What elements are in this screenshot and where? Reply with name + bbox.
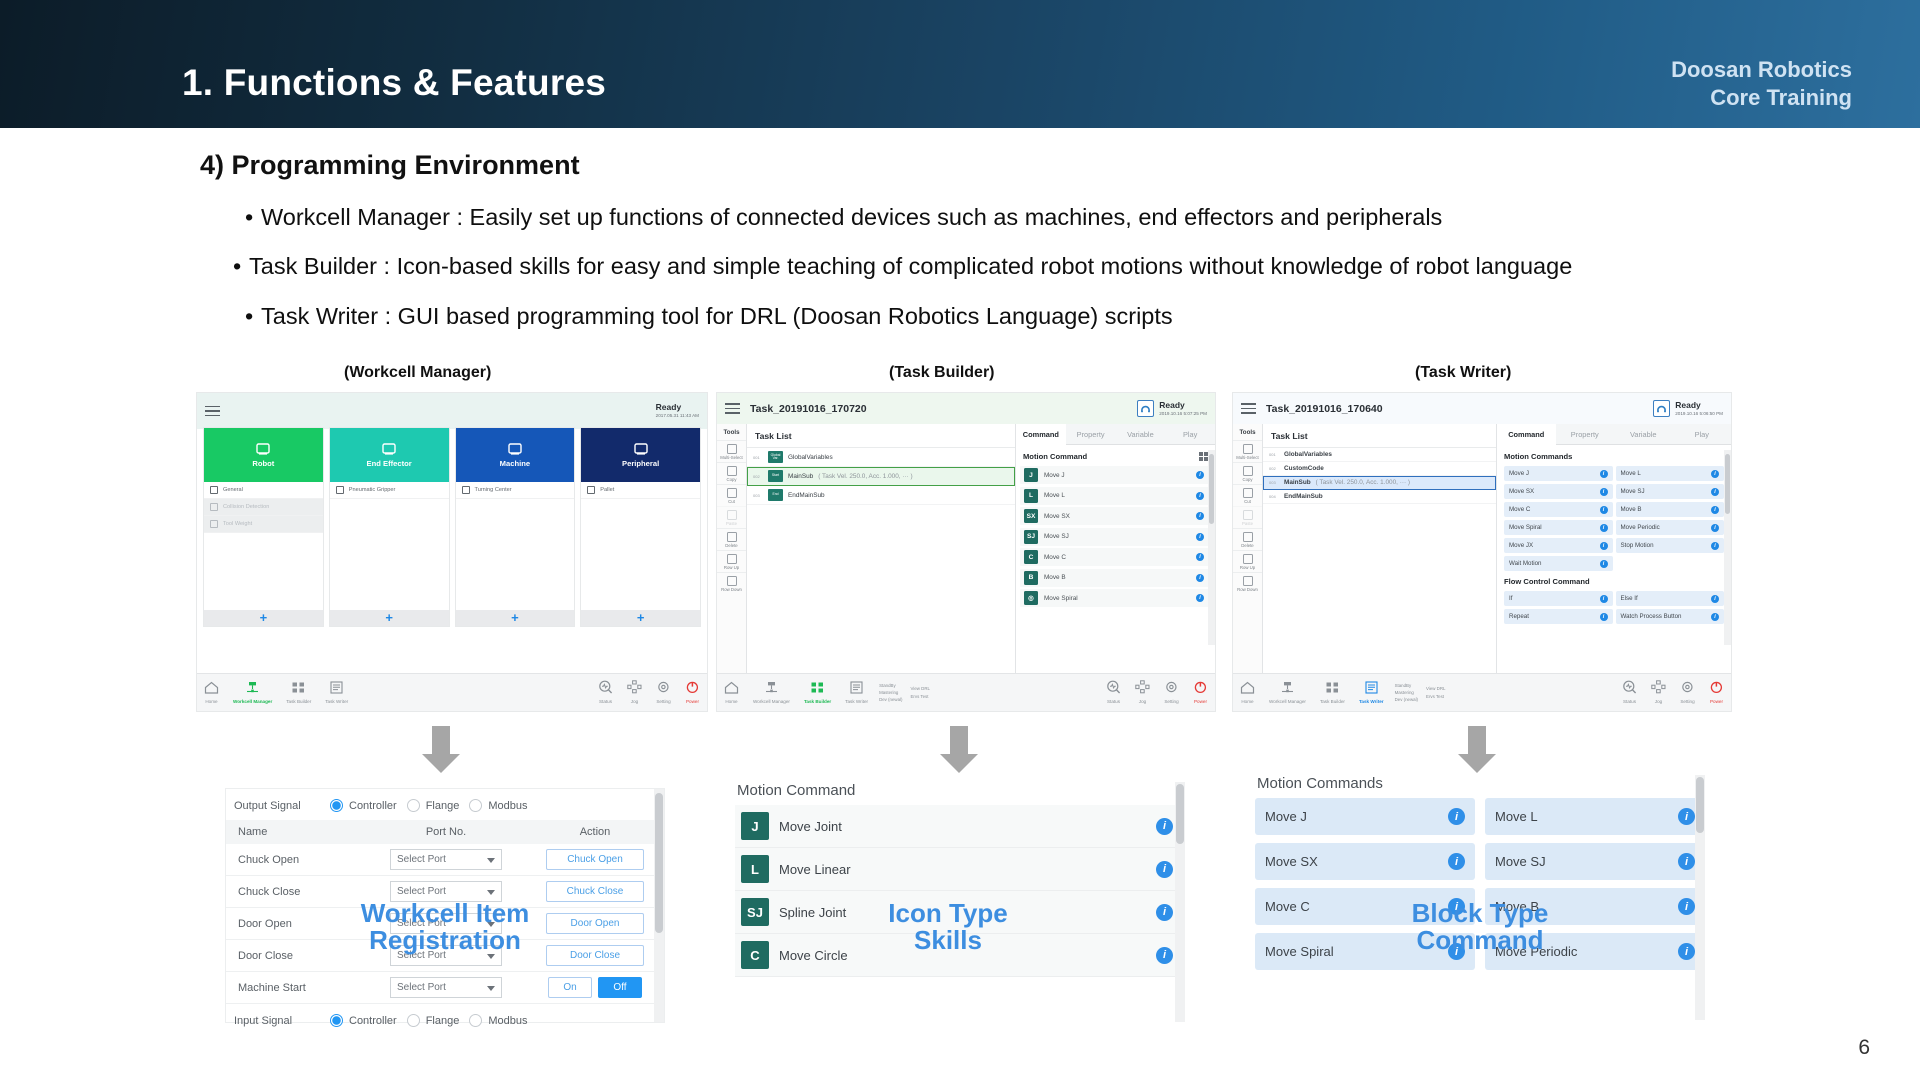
arrow-down-taskwriter: [1458, 726, 1496, 773]
tool-label: Delete: [1241, 543, 1253, 548]
task-list-row[interactable]: 003MainSub( Task Vel. 250.0, Acc. 1.000,…: [1263, 476, 1496, 490]
tab-play[interactable]: Play: [1673, 424, 1732, 444]
status-badge: Ready 2019.10.16 5:07:25 PM: [1137, 400, 1207, 417]
task-list[interactable]: Task List 001Global Var.GlobalVariables0…: [747, 424, 1016, 675]
nav-task-writer[interactable]: Task Writer: [1352, 681, 1391, 704]
block-command-stop-motion[interactable]: Stop Motioni: [1616, 538, 1725, 553]
block-command-move-l[interactable]: Move Li: [1616, 466, 1725, 481]
command-label: Move Spiral: [1044, 595, 1078, 602]
tool-label: Row Down: [721, 587, 742, 592]
info-icon[interactable]: i: [1448, 853, 1465, 870]
nav-workcell-manager[interactable]: Workcell Manager: [1262, 681, 1313, 704]
task-list[interactable]: Task List 001GlobalVariables002CustomCod…: [1263, 424, 1497, 675]
tab-property[interactable]: Property: [1556, 424, 1615, 444]
nav-jog[interactable]: Jog: [620, 680, 649, 704]
setting-icon: [656, 680, 671, 696]
task-name: Task_20191016_170720: [750, 403, 867, 415]
tool-row-up[interactable]: Row Up: [1233, 550, 1262, 572]
block-command-move-periodic[interactable]: Move Periodici: [1616, 520, 1725, 535]
workcell-card-robot[interactable]: RobotGeneralCollision DetectionTool Weig…: [203, 427, 324, 627]
scrollbar[interactable]: [1175, 782, 1185, 1022]
block-label: Move SJ: [1621, 488, 1645, 495]
gripper-small-icon: [336, 486, 344, 494]
card-title: Machine: [500, 459, 530, 468]
action-wrap: Door Close: [526, 945, 664, 966]
info-icon[interactable]: i: [1678, 943, 1695, 960]
card-body: Pallet: [581, 482, 700, 610]
card-item[interactable]: Pallet: [581, 482, 700, 499]
add-item-button[interactable]: +: [204, 610, 323, 626]
block-move-sx[interactable]: Move SXi: [1255, 843, 1475, 880]
caption-task-builder: (Task Builder): [889, 364, 995, 382]
info-icon[interactable]: i: [1600, 470, 1608, 478]
info-icon[interactable]: i: [1448, 808, 1465, 825]
setting-icon: [1164, 680, 1179, 696]
cell-name: Chuck Open: [226, 844, 366, 876]
nav-task-builder[interactable]: Task Builder: [1313, 681, 1352, 704]
command-row[interactable]: CMove Ci: [1020, 548, 1211, 566]
task-list-row[interactable]: 001Global Var.GlobalVariables: [747, 448, 1015, 467]
port-select[interactable]: Select Port: [390, 849, 502, 870]
info-icon[interactable]: i: [1156, 818, 1173, 835]
info-icon[interactable]: i: [1678, 808, 1695, 825]
tool-delete[interactable]: Delete: [1233, 528, 1262, 550]
command-row[interactable]: ◎Move Spirali: [1020, 589, 1211, 607]
info-icon[interactable]: i: [1196, 594, 1204, 602]
gripper-icon: [381, 442, 397, 456]
task-list-row[interactable]: 004EndMainSub: [1263, 490, 1496, 504]
tab-command[interactable]: Command: [1497, 424, 1556, 445]
card-item-label: Pneumatic Gripper: [349, 487, 396, 493]
block-move-l[interactable]: Move Li: [1485, 798, 1705, 835]
command-label: Move C: [1044, 554, 1066, 561]
nav-status-group: StandByMasteringDev (newal): [875, 682, 906, 704]
workcell-manager-icon: [753, 681, 790, 696]
action-button[interactable]: Chuck Open: [546, 849, 644, 870]
motion-command-grid[interactable]: Move JiMove LiMove SXiMove SJiMove CiMov…: [1497, 466, 1731, 571]
task-list-header: Task List: [1263, 424, 1496, 448]
status-icon: [1622, 680, 1637, 696]
command-tabs[interactable]: CommandPropertyVariablePlay: [1016, 424, 1215, 445]
pallet-small-icon: [587, 486, 595, 494]
task-list-rows[interactable]: 001GlobalVariables002CustomCode003MainSu…: [1263, 448, 1496, 504]
nav-power[interactable]: Power: [1186, 680, 1215, 704]
command-label: Move J: [1044, 472, 1065, 479]
command-row[interactable]: JMove Ji: [1020, 466, 1211, 484]
row-label: GlobalVariables: [1284, 451, 1332, 458]
info-icon[interactable]: i: [1711, 470, 1719, 478]
nav-task-builder[interactable]: Task Builder: [279, 681, 318, 704]
command-pane[interactable]: CommandPropertyVariablePlay Motion Comma…: [1497, 424, 1731, 675]
page-title: 1. Functions & Features: [182, 62, 606, 104]
skill-label: Move Linear: [779, 862, 851, 877]
block-command-repeat[interactable]: Repeati: [1504, 609, 1612, 624]
bullet-dot-icon: •: [245, 305, 261, 329]
block-command-move-spiral[interactable]: Move Spirali: [1504, 520, 1612, 535]
nav-label: Status: [599, 699, 612, 704]
status-group-item: Mastering: [1395, 689, 1418, 696]
info-icon[interactable]: i: [1600, 595, 1608, 603]
block-command-if[interactable]: Ifi: [1504, 591, 1612, 606]
workcell-card-peripheral[interactable]: PeripheralPallet+: [580, 427, 701, 627]
block-label: Move C: [1509, 506, 1530, 513]
status-icon: [598, 680, 613, 696]
info-icon[interactable]: i: [1196, 492, 1204, 500]
add-item-button[interactable]: +: [581, 610, 700, 626]
nav-home[interactable]: Home: [717, 681, 746, 704]
radio-controller-input[interactable]: Controller: [330, 1014, 397, 1027]
nav-setting[interactable]: Setting: [1157, 680, 1186, 704]
nav-task-writer[interactable]: Task Writer: [318, 681, 355, 704]
bullet-item-workcell-manager: •Workcell Manager : Easily set up functi…: [245, 206, 1442, 230]
card-title: Robot: [252, 459, 274, 468]
block-label: Else If: [1621, 595, 1638, 602]
tool-multi-select[interactable]: Multi-Select: [717, 440, 746, 462]
move-spiral-icon: ◎: [1024, 591, 1038, 605]
tb-topbar: Task_20191016_170720 Ready 2019.10.16 5:…: [717, 393, 1215, 424]
task-builder-icon: [1320, 681, 1345, 696]
tool-label: Row Up: [724, 565, 739, 570]
page-number: 6: [1858, 1036, 1870, 1060]
tab-play[interactable]: Play: [1165, 424, 1215, 444]
block-label: If: [1509, 595, 1512, 602]
info-icon[interactable]: i: [1600, 506, 1608, 514]
status-group-item: View DRL: [911, 685, 930, 692]
workcell-card-end-effector[interactable]: End EffectorPneumatic Gripper+: [329, 427, 450, 627]
move-j-icon: J: [1024, 468, 1038, 482]
block-command-move-sj[interactable]: Move SJi: [1616, 484, 1725, 499]
tool-multi-select[interactable]: Multi-Select: [1233, 440, 1262, 462]
workcell-card-machine[interactable]: MachineTurning Center+: [455, 427, 576, 627]
tool-delete[interactable]: Delete: [717, 528, 746, 550]
card-item[interactable]: Collision Detection: [204, 499, 323, 516]
tool-cut[interactable]: Cut: [717, 484, 746, 506]
row-label: GlobalVariables: [788, 454, 833, 461]
row-number: 002: [1269, 466, 1279, 471]
info-icon[interactable]: i: [1600, 613, 1608, 621]
block-label: Wait Motion: [1509, 560, 1541, 567]
block-command-watch-process-button[interactable]: Watch Process Buttoni: [1616, 609, 1725, 624]
row-down-icon: [727, 576, 737, 586]
nav-label: Task Builder: [804, 699, 831, 704]
card-item[interactable]: Turning Center: [456, 482, 575, 499]
block-command-move-jx[interactable]: Move JXi: [1504, 538, 1612, 553]
skill-row-move-linear[interactable]: LMove Lineari: [735, 848, 1185, 891]
status-group-item: View DRL: [1426, 685, 1445, 692]
scrollbar[interactable]: [1695, 775, 1705, 1020]
info-icon[interactable]: i: [1196, 471, 1204, 479]
tools-rail[interactable]: ToolsMulti-SelectCopyCutPasteDeleteRow U…: [1233, 424, 1263, 675]
row-number: 002: [753, 474, 763, 479]
nav-setting[interactable]: Setting: [1673, 680, 1702, 704]
status-group-item: StandBy: [879, 682, 902, 689]
power-icon: [685, 680, 700, 696]
table-header-row: Name Port No. Action: [226, 820, 664, 844]
power-icon: [1193, 680, 1208, 696]
command-label: Move B: [1044, 574, 1066, 581]
cell-port: Select Port: [366, 972, 526, 1004]
caption-task-writer: (Task Writer): [1415, 364, 1511, 382]
info-icon[interactable]: i: [1196, 574, 1204, 582]
tool-paste[interactable]: Paste: [717, 506, 746, 528]
block-label: Move L: [1495, 809, 1538, 824]
task-builder-screenshot[interactable]: Task_20191016_170720 Ready 2019.10.16 5:…: [716, 392, 1216, 712]
status-timestamp: 2019.10.16 5:07:25 PM: [1159, 411, 1207, 416]
nav-workcell-manager[interactable]: Workcell Manager: [746, 681, 797, 704]
brand-block: Doosan Robotics Core Training: [1671, 56, 1852, 112]
command-pane[interactable]: CommandPropertyVariablePlay Motion Comma…: [1016, 424, 1215, 675]
radio-flange-input[interactable]: Flange: [407, 1014, 460, 1027]
grid-view-icon[interactable]: [1199, 452, 1208, 461]
nav-power[interactable]: Power: [1702, 680, 1731, 704]
info-icon[interactable]: i: [1600, 542, 1608, 550]
task-writer-icon: [845, 681, 868, 696]
status-group-item: Dev (newal): [1395, 696, 1418, 703]
add-item-button[interactable]: +: [330, 610, 449, 626]
caption-workcell-manager: (Workcell Manager): [344, 364, 491, 382]
motion-command-title: Motion Command: [735, 782, 1185, 805]
info-icon[interactable]: i: [1156, 947, 1173, 964]
task-name: Task_20191016_170640: [1266, 403, 1383, 415]
bottom-nav[interactable]: HomeWorkcell ManagerTask BuilderTask Wri…: [717, 673, 1215, 711]
task-list-row[interactable]: 002StartMainSub( Task Vel. 250.0, Acc. 1…: [747, 467, 1015, 486]
nav-label: Jog: [631, 699, 638, 704]
block-label: Move Periodic: [1621, 524, 1660, 531]
command-tabs[interactable]: CommandPropertyVariablePlay: [1497, 424, 1731, 445]
action-on-button[interactable]: On: [548, 977, 592, 998]
move-sj-icon: SJ: [741, 898, 769, 926]
nav-label: Setting: [656, 699, 670, 704]
bottom-nav[interactable]: HomeWorkcell ManagerTask BuilderTask Wri…: [1233, 673, 1731, 711]
nav-setting[interactable]: Setting: [649, 680, 678, 704]
action-button[interactable]: Door Open: [546, 913, 644, 934]
task-list-row[interactable]: 003EndEndMainSub: [747, 486, 1015, 505]
action-off-button[interactable]: Off: [598, 977, 642, 998]
tab-variable[interactable]: Variable: [1614, 424, 1673, 444]
workcell-manager-icon: [1269, 681, 1306, 696]
row-chip-icon: Start: [768, 470, 783, 482]
port-select[interactable]: Select Port: [390, 977, 502, 998]
tool-cut[interactable]: Cut: [1233, 484, 1262, 506]
tab-property[interactable]: Property: [1066, 424, 1116, 444]
workcell-manager-screenshot[interactable]: Ready 2017.05.31 11:43 AM RobotGeneralCo…: [196, 392, 708, 712]
status-group-item: Ervs Test: [911, 693, 930, 700]
nav-label: Workcell Manager: [233, 699, 272, 704]
section-title: 4) Programming Environment: [200, 150, 580, 181]
brand-line-2: Core Training: [1671, 84, 1852, 112]
nav-jog[interactable]: Jog: [1128, 680, 1157, 704]
tool-copy[interactable]: Copy: [1233, 462, 1262, 484]
nav-task-builder[interactable]: Task Builder: [797, 681, 838, 704]
menu-icon[interactable]: [725, 403, 740, 414]
output-signal-label: Output Signal: [234, 800, 320, 812]
status-group-item: Ervs Test: [1426, 693, 1445, 700]
robot-small-icon: [210, 486, 218, 494]
info-icon[interactable]: i: [1600, 524, 1608, 532]
move-sj-icon: SJ: [1024, 530, 1038, 544]
move-j-icon: J: [741, 812, 769, 840]
move-b-icon: B: [1024, 571, 1038, 585]
card-title: Peripheral: [622, 459, 659, 468]
radio-modbus-output[interactable]: Modbus: [469, 799, 527, 812]
command-row[interactable]: BMove Bi: [1020, 569, 1211, 587]
output-signal-row[interactable]: Output Signal Controller Flange Modbus: [226, 789, 664, 820]
nav-power[interactable]: Power: [678, 680, 707, 704]
tool-row-down[interactable]: Row Down: [717, 572, 746, 594]
menu-icon[interactable]: [205, 406, 220, 417]
move-c-icon: C: [741, 941, 769, 969]
info-icon[interactable]: i: [1196, 533, 1204, 541]
tab-variable[interactable]: Variable: [1116, 424, 1166, 444]
info-icon[interactable]: i: [1600, 560, 1608, 568]
skill-label: Spline Joint: [779, 905, 846, 920]
tool-copy[interactable]: Copy: [717, 462, 746, 484]
bullet-dot-icon: •: [233, 255, 249, 279]
nav-workcell-manager[interactable]: Workcell Manager: [226, 681, 279, 704]
command-row[interactable]: LMove Li: [1020, 487, 1211, 505]
block-label: Move L: [1621, 470, 1641, 477]
task-list-row[interactable]: 002CustomCode: [1263, 462, 1496, 476]
row-label: CustomCode: [1284, 465, 1324, 472]
move-sx-icon: SX: [1024, 509, 1038, 523]
row-number: 001: [1269, 452, 1279, 457]
block-command-wait-motion[interactable]: Wait Motioni: [1504, 556, 1612, 571]
block-command-move-b[interactable]: Move Bi: [1616, 502, 1725, 517]
bottom-nav[interactable]: HomeWorkcell ManagerTask BuilderTask Wri…: [197, 673, 707, 711]
block-move-sj[interactable]: Move SJi: [1485, 843, 1705, 880]
nav-task-writer[interactable]: Task Writer: [838, 681, 875, 704]
skill-row-move-joint[interactable]: JMove Jointi: [735, 805, 1185, 848]
home-icon: [724, 681, 739, 696]
add-item-button[interactable]: +: [456, 610, 575, 626]
task-list-rows[interactable]: 001Global Var.GlobalVariables002StartMai…: [747, 448, 1015, 505]
info-icon[interactable]: i: [1156, 904, 1173, 921]
tool-label: Row Up: [1240, 565, 1255, 570]
tools-rail[interactable]: ToolsMulti-SelectCopyCutPasteDeleteRow U…: [717, 424, 747, 675]
block-command-else-if[interactable]: Else Ifi: [1616, 591, 1725, 606]
info-icon[interactable]: i: [1711, 613, 1719, 621]
info-icon[interactable]: i: [1711, 524, 1719, 532]
nav-home[interactable]: Home: [1233, 681, 1262, 704]
block-move-j[interactable]: Move Ji: [1255, 798, 1475, 835]
task-list-header: Task List: [747, 424, 1015, 448]
block-label: Move Spiral: [1265, 944, 1334, 959]
menu-icon[interactable]: [1241, 403, 1256, 414]
tool-label: Copy: [726, 477, 736, 482]
info-icon[interactable]: i: [1678, 898, 1695, 915]
table-row: Chuck OpenSelect PortChuck Open: [226, 844, 664, 876]
port-wrap: Select Port: [366, 977, 526, 998]
radio-controller-output[interactable]: Controller: [330, 799, 397, 812]
flow-command-grid[interactable]: IfiElse IfiRepeatiWatch Process Buttoni: [1497, 591, 1731, 624]
info-icon[interactable]: i: [1156, 861, 1173, 878]
card-item[interactable]: Pneumatic Gripper: [330, 482, 449, 499]
tool-row-up[interactable]: Row Up: [717, 550, 746, 572]
arrow-down-workcell: [422, 726, 460, 773]
move-c-icon: C: [1024, 550, 1038, 564]
tool-label: Copy: [1242, 477, 1252, 482]
status-group-item: StandBy: [1395, 682, 1418, 689]
section-label: Motion Command: [1023, 452, 1087, 461]
scrollbar[interactable]: [1724, 450, 1731, 645]
action-button[interactable]: Door Close: [546, 945, 644, 966]
tool-paste[interactable]: Paste: [1233, 506, 1262, 528]
tab-command[interactable]: Command: [1016, 424, 1066, 445]
nav-status[interactable]: Status: [1099, 680, 1128, 704]
command-label: Move SX: [1044, 513, 1070, 520]
card-header: Peripheral: [581, 428, 700, 482]
machine-icon: [507, 442, 523, 456]
scrollbar[interactable]: [654, 789, 664, 1022]
motion-command-list[interactable]: JMove JiLMove LiSXMove SXiSJMove SJiCMov…: [1016, 466, 1215, 607]
scrollbar[interactable]: [1208, 450, 1215, 645]
tool-label: Cut: [1244, 499, 1251, 504]
task-writer-screenshot[interactable]: Task_20191016_170640 Ready 2019.10.16 5:…: [1232, 392, 1732, 712]
command-section-title: Motion Command: [1016, 445, 1215, 466]
task-list-row[interactable]: 001GlobalVariables: [1263, 448, 1496, 462]
command-label: Move L: [1044, 492, 1065, 499]
nav-home[interactable]: Home: [197, 681, 226, 704]
weight-icon: [210, 520, 218, 528]
tw-topbar: Task_20191016_170640 Ready 2019.10.16 5:…: [1233, 393, 1731, 424]
nav-label: Setting: [1680, 699, 1694, 704]
nav-status[interactable]: Status: [591, 680, 620, 704]
card-body: GeneralCollision DetectionTool Weight: [204, 482, 323, 610]
info-icon[interactable]: i: [1711, 506, 1719, 514]
tool-label: Multi-Select: [1236, 455, 1258, 460]
card-item-label: Collision Detection: [223, 504, 269, 510]
nav-status[interactable]: Status: [1615, 680, 1644, 704]
nav-jog[interactable]: Jog: [1644, 680, 1673, 704]
robot-arm-icon: [255, 442, 271, 456]
command-row[interactable]: SJMove SJi: [1020, 528, 1211, 546]
tool-row-down[interactable]: Row Down: [1233, 572, 1262, 594]
info-icon[interactable]: i: [1196, 553, 1204, 561]
info-icon[interactable]: i: [1711, 595, 1719, 603]
info-icon[interactable]: i: [1600, 488, 1608, 496]
info-icon[interactable]: i: [1711, 488, 1719, 496]
input-signal-row[interactable]: Input Signal Controller Flange Modbus: [226, 1004, 664, 1035]
info-icon[interactable]: i: [1711, 542, 1719, 550]
nav-label: Task Builder: [1320, 699, 1345, 704]
block-label: Move SJ: [1495, 854, 1546, 869]
block-label: Move C: [1265, 899, 1310, 914]
nav-label: Setting: [1164, 699, 1178, 704]
radio-flange-output[interactable]: Flange: [407, 799, 460, 812]
card-item-label: Pallet: [600, 487, 614, 493]
block-command-move-sx[interactable]: Move SXi: [1504, 484, 1612, 499]
card-body: Turning Center: [456, 482, 575, 610]
command-row[interactable]: SXMove SXi: [1020, 507, 1211, 525]
row-up-icon: [1243, 554, 1253, 564]
block-label: Move JX: [1509, 542, 1533, 549]
cut-icon: [727, 488, 737, 498]
info-icon[interactable]: i: [1196, 512, 1204, 520]
col-port: Port No.: [366, 820, 526, 844]
card-item-label: General: [223, 487, 243, 493]
radio-modbus-input[interactable]: Modbus: [469, 1014, 527, 1027]
nav-status-group-2: View DRLErvs Test: [907, 685, 934, 700]
tool-label: Paste: [1242, 521, 1253, 526]
block-command-move-c[interactable]: Move Ci: [1504, 502, 1612, 517]
action-button[interactable]: Chuck Close: [546, 881, 644, 902]
card-item[interactable]: General: [204, 482, 323, 499]
block-label: Watch Process Button: [1621, 613, 1682, 620]
block-label: Move Spiral: [1509, 524, 1542, 531]
card-item[interactable]: Tool Weight: [204, 516, 323, 533]
block-command-move-j[interactable]: Move Ji: [1504, 466, 1612, 481]
info-icon[interactable]: i: [1678, 853, 1695, 870]
